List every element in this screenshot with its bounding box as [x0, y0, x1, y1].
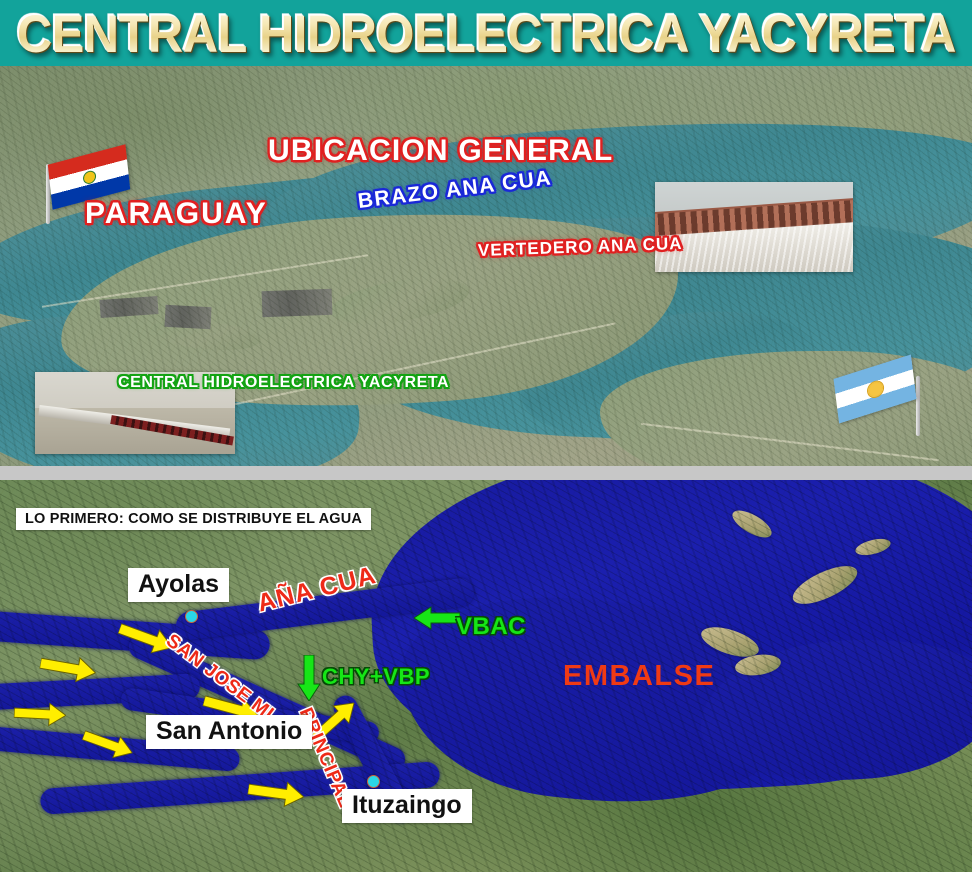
- argentina-flag: [830, 358, 950, 438]
- country-label-paraguay: PARAGUAY: [85, 197, 268, 231]
- slide-root: CENTRAL HIDROELECTRICA YACYRETA: [0, 0, 972, 872]
- place-label-ayolas: Ayolas: [128, 568, 229, 602]
- city-marker-ituzaingo[interactable]: [367, 775, 380, 788]
- callout-lo-primero: LO PRIMERO: COMO SE DISTRIBUYE EL AGUA: [16, 508, 371, 530]
- chy-vbp-arrow-icon: [296, 655, 322, 706]
- flag-pole: [916, 376, 920, 436]
- sun-of-may-icon: [867, 379, 884, 398]
- lower-map-panel: AÑA CUA SAN JOSE MI PRINCIPAL EMBALSE VB…: [0, 480, 972, 872]
- panel-divider: [0, 466, 972, 480]
- flow-label-chy-vbp: CHY+VBP: [322, 664, 430, 690]
- vbac-arrow-icon: [414, 605, 460, 636]
- place-label-san-antonio: San Antonio: [146, 715, 312, 749]
- page-title: CENTRAL HIDROELECTRICA YACYRETA: [17, 2, 956, 64]
- paraguay-emblem-icon: [82, 169, 96, 185]
- argentina-flag-cloth: [833, 354, 916, 423]
- place-label-ituzaingo: Ituzaingo: [342, 789, 472, 823]
- city-marker-ayolas[interactable]: [185, 610, 198, 623]
- slide-header: CENTRAL HIDROELECTRICA YACYRETA: [0, 0, 972, 66]
- ana-cua-spillway-photo: [655, 182, 853, 272]
- flow-label-vbac: VBAC: [456, 613, 526, 641]
- reservoir-label-embalse: EMBALSE: [563, 660, 715, 693]
- satellite-texture-bottom: [0, 480, 972, 872]
- map-label-central-hidroelectrica: CENTRAL HIDROELECTRICA YACYRETA: [118, 374, 449, 392]
- upper-map-panel: UBICACION GENERAL PARAGUAY BRAZO ANA CUA…: [0, 66, 972, 466]
- flow-arrow-3: [13, 701, 66, 728]
- upper-panel-subtitle: UBICACION GENERAL: [268, 134, 613, 168]
